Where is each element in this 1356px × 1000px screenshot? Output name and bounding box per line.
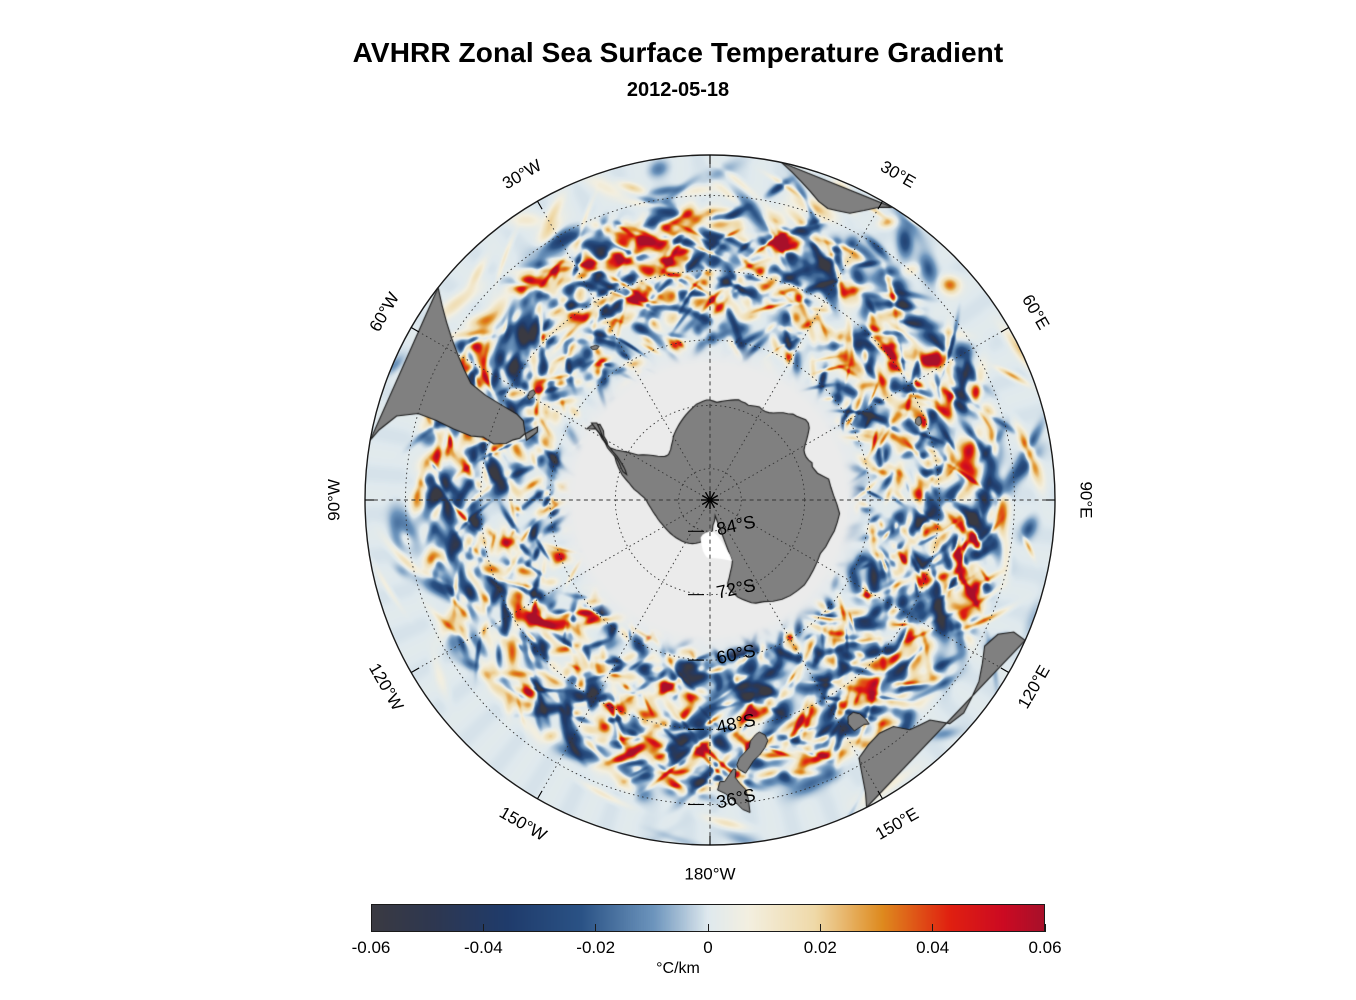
colorbar-tick [932,924,933,932]
colorbar-tick [595,924,596,932]
page-title: AVHRR Zonal Sea Surface Temperature Grad… [0,38,1356,69]
longitude-line [711,201,882,498]
colorbar-unit-label: °C/km [0,960,1356,978]
longitude-label: 0° [702,130,718,133]
longitude-label: 120°W [365,660,407,714]
map-overlay: 0°30°E60°E90°E120°E150°E180°W150°W120°W9… [310,130,1110,890]
polar-map: 0°30°E60°E90°E120°E150°E180°W150°W120°W9… [310,130,1110,890]
longitude-label: 180°W [684,864,735,883]
longitude-label: 150°W [496,803,550,845]
longitude-label: 90°W [324,479,343,521]
latitude-label: 60°S [715,640,758,668]
colorbar-tick-label: 0.02 [804,938,837,958]
longitude-label: 60°E [1018,291,1053,333]
latitude-label: 72°S [715,575,758,603]
colorbar-tick-label: -0.06 [352,938,391,958]
longitude-label: 30°W [499,156,545,193]
latitude-label: 84°S [715,512,758,540]
colorbar-tick-label: -0.02 [576,938,615,958]
latitude-labels: 84°S72°S60°S48°S36°S [688,512,757,813]
longitude-line [538,502,709,799]
colorbar-tick-label: 0.04 [916,938,949,958]
latitude-label: 48°S [715,710,758,738]
longitude-line [712,328,1009,499]
longitude-tick [538,791,543,799]
colorbar-tick-label: -0.04 [464,938,503,958]
longitude-label: 120°E [1014,662,1054,712]
longitude-tick [1001,328,1009,333]
colorbar-tick [371,924,372,932]
longitude-line [411,328,708,499]
longitude-tick [411,668,419,673]
figure-canvas: AVHRR Zonal Sea Surface Temperature Grad… [0,0,1356,1000]
longitude-tick [1001,668,1009,673]
colorbar-tick [708,924,709,932]
latitude-label: 36°S [715,785,758,813]
colorbar-tick-label: 0.06 [1028,938,1061,958]
longitude-label: 30°E [877,157,919,192]
longitude-line [712,501,1009,672]
longitude-label: 150°E [872,804,922,844]
colorbar-ticks [371,904,1045,932]
colorbar-tick-label: 0 [703,938,712,958]
longitude-tick [878,791,883,799]
title-block: AVHRR Zonal Sea Surface Temperature Grad… [0,38,1356,102]
longitude-tick [878,201,883,209]
figure-subtitle: 2012-05-18 [0,79,1356,102]
longitude-line [411,501,708,672]
longitude-tick [411,328,419,333]
longitude-line [538,201,709,498]
longitude-label: 60°W [366,289,403,335]
colorbar-tick [483,924,484,932]
colorbar: °C/km -0.06-0.04-0.0200.020.040.06 [0,898,1356,998]
colorbar-tick [1045,924,1046,932]
longitude-tick [538,201,543,209]
longitude-label: 90°E [1077,481,1096,518]
colorbar-tick [820,924,821,932]
pole-marker [701,491,719,509]
